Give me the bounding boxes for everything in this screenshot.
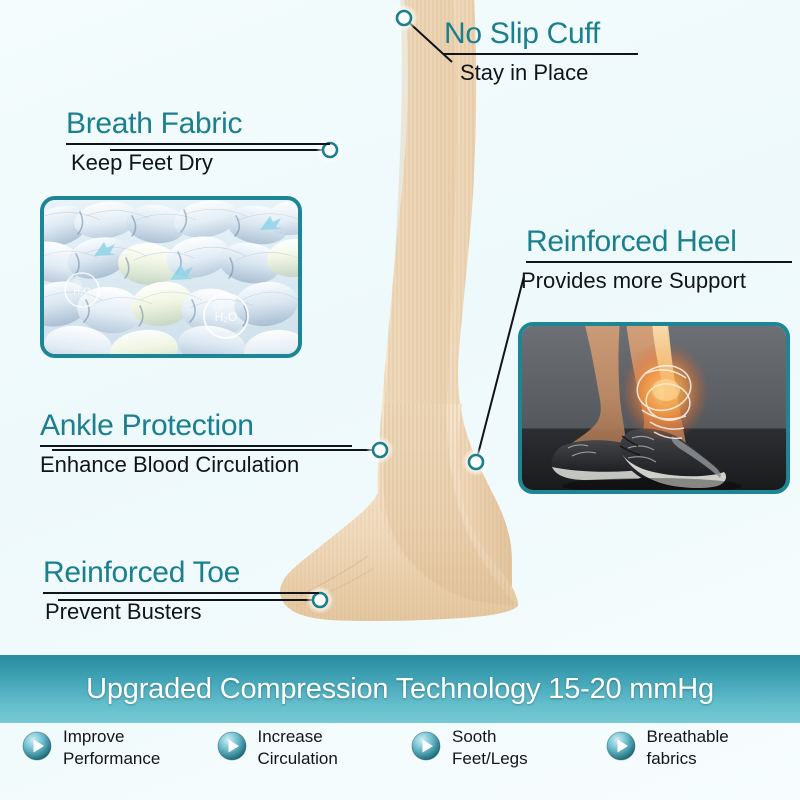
callout-title-ankle: Ankle Protection: [40, 410, 352, 442]
callout-dot-icon-cuff: [390, 4, 418, 32]
svg-text:H₂O: H₂O: [74, 286, 91, 296]
callout-dot-icon-ankle: [366, 436, 394, 464]
callout-no-slip-cuff: No Slip Cuff Stay in Place: [444, 18, 638, 86]
callout-title-heel: Reinforced Heel: [526, 226, 792, 258]
callout-rule-toe: [43, 592, 319, 594]
play-circle-icon: [411, 731, 441, 761]
play-circle-icon: [606, 731, 636, 761]
benefit-label: Increase Circulation: [258, 726, 338, 770]
callout-subtitle-ankle: Enhance Blood Circulation: [40, 451, 352, 479]
fabric-closeup-graphic: H₂O H₂O: [44, 200, 298, 354]
callout-dot-icon-heel: [462, 448, 490, 476]
callout-title-toe: Reinforced Toe: [43, 557, 319, 589]
benefit-item: Sooth Feet/Legs: [411, 726, 606, 770]
benefit-label: Breathable fabrics: [647, 726, 729, 770]
benefit-label: Sooth Feet/Legs: [452, 726, 528, 770]
benefit-item: Increase Circulation: [217, 726, 412, 770]
callout-markers: [306, 4, 490, 614]
play-circle-icon: [217, 731, 247, 761]
callout-subtitle-heel: Provides more Support: [521, 267, 792, 295]
inset-photo-breath-fabric: H₂O H₂O: [40, 196, 302, 358]
play-circle-icon: [22, 731, 52, 761]
callout-ankle-protection: Ankle Protection Enhance Blood Circulati…: [40, 410, 352, 478]
callout-subtitle-toe: Prevent Busters: [45, 598, 319, 626]
callout-rule-ankle: [40, 445, 352, 447]
benefit-item: Breathable fabrics: [606, 726, 800, 770]
svg-text:H₂O: H₂O: [215, 310, 238, 324]
callout-title-fabric: Breath Fabric: [66, 108, 330, 140]
inset-photo-reinforced-heel: [518, 322, 790, 494]
sock-shape: [280, 0, 518, 621]
callout-rule-heel: [526, 261, 792, 263]
callout-breath-fabric: Breath Fabric Keep Feet Dry: [66, 108, 330, 176]
benefits-list: Improve Performance Increase Circulation…: [0, 726, 800, 800]
benefit-item: Improve Performance: [22, 726, 217, 770]
banner-headline: Upgraded Compression Technology 15-20 mm…: [86, 673, 714, 706]
compression-banner: Upgraded Compression Technology 15-20 mm…: [0, 655, 800, 723]
product-infographic: No Slip Cuff Stay in Place Breath Fabric…: [0, 0, 800, 800]
callout-subtitle-cuff: Stay in Place: [460, 59, 638, 87]
callout-title-cuff: No Slip Cuff: [444, 18, 638, 50]
ankle-support-graphic: [522, 326, 786, 490]
callout-reinforced-toe: Reinforced Toe Prevent Busters: [43, 557, 319, 625]
leader-line-heel: [476, 276, 524, 462]
callout-rule-fabric: [66, 143, 330, 145]
callout-rule-cuff: [444, 53, 638, 55]
benefit-label: Improve Performance: [63, 726, 160, 770]
callout-subtitle-fabric: Keep Feet Dry: [71, 149, 330, 177]
callout-reinforced-heel: Reinforced Heel Provides more Support: [526, 226, 792, 294]
